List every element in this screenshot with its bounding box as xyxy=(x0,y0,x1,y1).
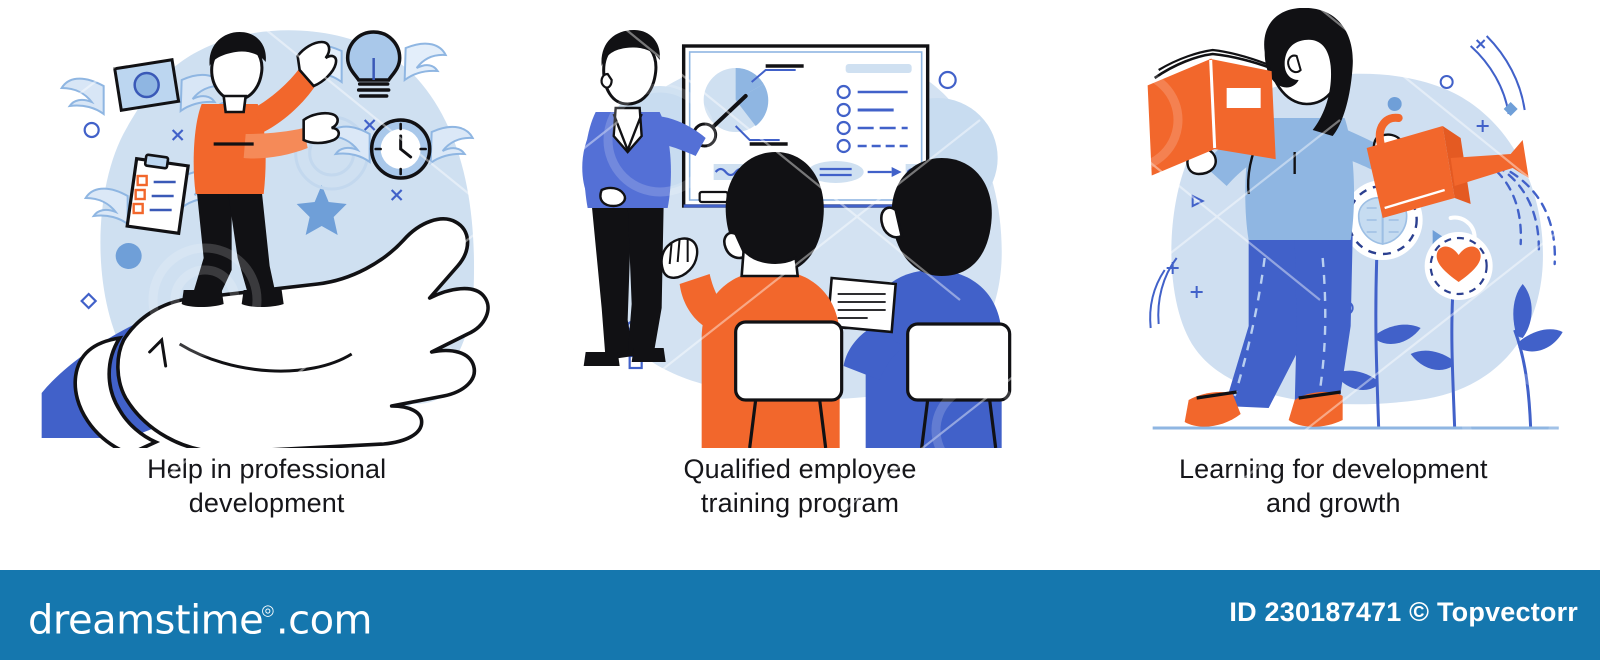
whiteboard-eraser xyxy=(700,192,728,202)
trainer-ear xyxy=(602,74,612,88)
hand-holding-person-scene xyxy=(0,8,533,448)
dreamstime-logo[interactable]: dreamstime◎.com xyxy=(28,592,372,642)
panel-help-professional-development[interactable]: Help in professional development xyxy=(0,0,533,560)
decorative-dot-blue xyxy=(1387,97,1401,111)
classroom-training-scene xyxy=(533,8,1066,448)
panel-row: Help in professional development xyxy=(0,0,1600,560)
plant-stem-leaves xyxy=(1513,284,1562,428)
registered-mark-icon: ◎ xyxy=(261,601,274,619)
panel-caption: Qualified employee training program xyxy=(533,452,1066,520)
man-neck xyxy=(224,96,246,112)
logo-word: dreamstime xyxy=(28,597,263,643)
image-credit: ID 230187471 © Topvectorr xyxy=(1229,596,1578,628)
man-shoe-left xyxy=(182,290,224,307)
panel-qualified-employee-training-program[interactable]: Qualified employee training program xyxy=(533,0,1066,560)
man-shoe-right xyxy=(242,290,284,307)
woman-watering-knowledge-plants-scene xyxy=(1067,8,1600,448)
decorative-dot xyxy=(116,243,142,269)
panel-caption: Help in professional development xyxy=(0,452,533,520)
panel-caption: Learning for development and growth xyxy=(1067,452,1600,520)
student-blue-head xyxy=(892,158,992,276)
panel-learning-for-development-and-growth[interactable]: Learning for development and growth xyxy=(1067,0,1600,560)
dreamstime-footer-bar: dreamstime◎.com ID 230187471 © Topvector… xyxy=(0,570,1600,660)
trainer-hand-hip xyxy=(601,188,626,206)
logo-tld: .com xyxy=(276,597,372,643)
trainer-shoe-right xyxy=(632,348,666,362)
man-hand-fwd xyxy=(304,113,339,143)
trainer-leg-left xyxy=(592,204,634,360)
trainer-shoe-left xyxy=(584,352,620,366)
illustration-canvas: Help in professional development xyxy=(0,0,1600,660)
